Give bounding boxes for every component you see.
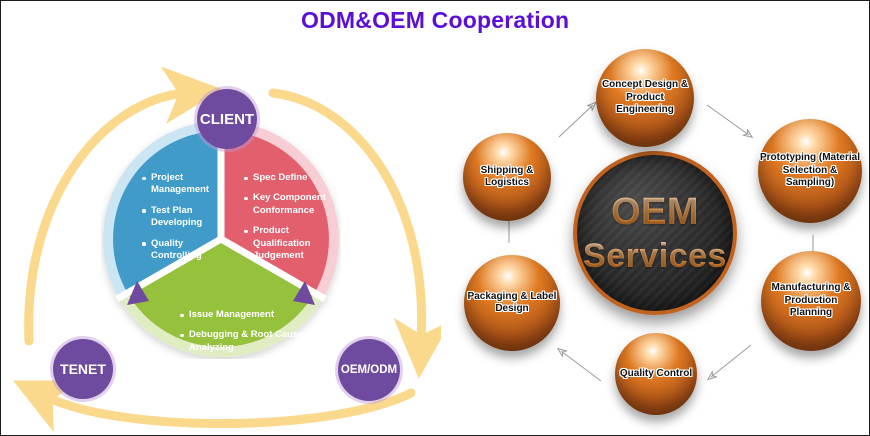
node-oem-odm[interactable]: OEM/ODM — [338, 339, 400, 401]
service-step-label: Manufacturing & Production Planning — [761, 282, 861, 320]
list-item: Test Consulting Schedule Controlling — [179, 362, 305, 387]
infographic-canvas: ODM&OEM Cooperation — [0, 0, 870, 436]
arrow-shipping-to-concept — [559, 105, 593, 137]
service-step-label: Shipping & Logistics — [463, 165, 551, 190]
center-title-line1: OEM — [611, 193, 699, 231]
center-title-line2: Services — [583, 239, 727, 273]
service-step-label: Concept Design & Product Engineering — [596, 79, 694, 117]
service-step-packaging[interactable]: Packaging & Label Design — [464, 255, 560, 351]
oem-services-center: OEM Services — [573, 151, 737, 315]
service-step-label: Prototyping (Material Selection & Sampli… — [758, 152, 862, 190]
list-item: Debugging & Root Cause Analyzing — [179, 329, 305, 354]
cooperation-cycle-diagram: Project Management Test Plan Developing … — [1, 41, 441, 435]
arrow-concept-to-prototyping — [707, 105, 749, 135]
service-step-label: Packaging & Label Design — [464, 291, 560, 316]
green-segment-labels: Issue Management Debugging & Root Cause … — [179, 309, 305, 395]
arrow-manufacturing-to-quality — [711, 345, 751, 377]
service-step-label: Quality Control — [618, 368, 694, 381]
list-item: Spec Define — [243, 172, 347, 184]
list-item: Product Qualification Judgement — [243, 225, 347, 262]
list-item: Key Component Conformance — [243, 192, 347, 217]
list-item: Quality Controlling — [141, 238, 233, 263]
list-item: Project Management — [141, 172, 233, 197]
list-item: Test Plan Developing — [141, 205, 233, 230]
list-item: Issue Management — [179, 309, 305, 321]
node-client[interactable]: CLIENT — [197, 89, 257, 149]
service-step-concept[interactable]: Concept Design & Product Engineering — [596, 49, 694, 147]
oem-services-diagram: OEM Services Concept Design & Product En… — [441, 21, 869, 435]
arrow-quality-to-packaging — [561, 351, 601, 381]
service-step-quality-control[interactable]: Quality Control — [615, 333, 697, 415]
service-step-prototyping[interactable]: Prototyping (Material Selection & Sampli… — [758, 119, 862, 223]
service-step-manufacturing[interactable]: Manufacturing & Production Planning — [761, 251, 861, 351]
node-tenet[interactable]: TENET — [53, 339, 113, 399]
service-step-shipping[interactable]: Shipping & Logistics — [463, 133, 551, 221]
red-segment-labels: Spec Define Key Component Conformance Pr… — [243, 172, 347, 270]
blue-segment-labels: Project Management Test Plan Developing … — [141, 172, 233, 270]
